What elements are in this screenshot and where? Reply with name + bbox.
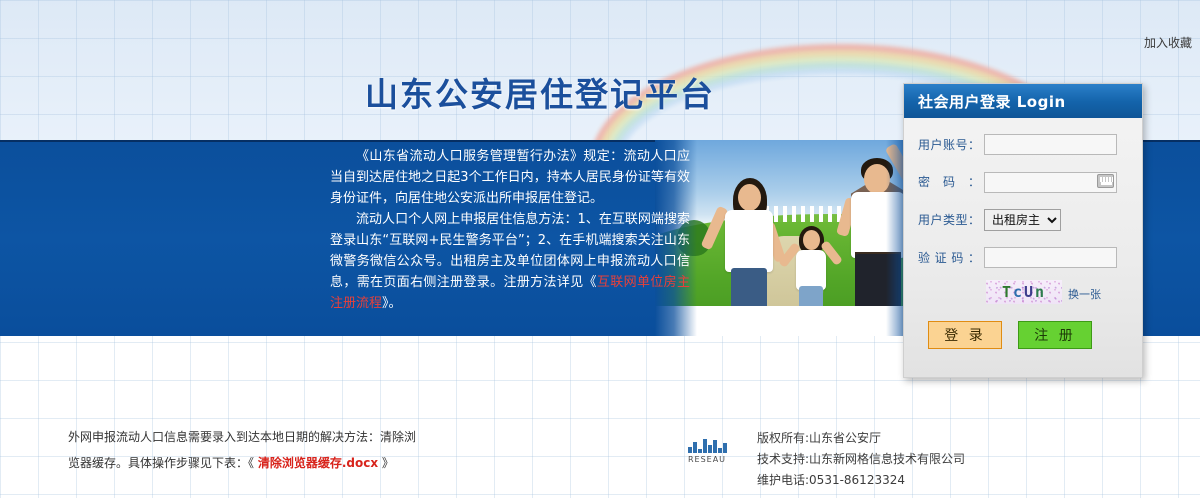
virtual-keyboard-icon[interactable] <box>1097 174 1114 188</box>
login-panel-title: 社会用户登录 Login <box>904 84 1142 118</box>
reseau-logo: RESEAU <box>680 438 734 464</box>
password-wrapper <box>984 171 1117 193</box>
captcha-row: 验证码 <box>904 247 1142 268</box>
password-row: 密码 <box>904 171 1142 193</box>
login-button[interactable]: 登 录 <box>928 321 1002 349</box>
login-panel: 社会用户登录 Login 用户账号 密码 用户类型 出租房主单位团体 验证码 T… <box>903 83 1143 378</box>
usertype-select[interactable]: 出租房主单位团体 <box>984 209 1061 231</box>
reseau-logo-icon <box>680 438 734 453</box>
copyright-line: 版权所有:山东省公安厅 <box>757 428 965 449</box>
captcha-label: 验证码 <box>918 249 984 266</box>
footer-notice-line2-after: 》 <box>378 456 394 470</box>
captcha-input[interactable] <box>984 247 1117 268</box>
family-photo <box>655 140 920 336</box>
clear-cache-doc-link[interactable]: 清除浏览器缓存.docx <box>258 456 378 470</box>
notice-paragraph-1: 《山东省流动人口服务管理暂行办法》规定：流动人口应当自到达居住地之日起3个工作日… <box>330 146 690 209</box>
add-to-favorites-link[interactable]: 加入收藏 <box>1144 36 1192 50</box>
captcha-refresh-link[interactable]: 换一张 <box>1068 286 1101 302</box>
usertype-label: 用户类型 <box>918 211 984 228</box>
username-label: 用户账号 <box>918 136 984 153</box>
captcha-image[interactable]: TcUn <box>986 280 1062 304</box>
footer-notice: 外网申报流动人口信息需要录入到达本地日期的解决方法：清除浏 览器缓存。具体操作步… <box>68 424 488 476</box>
support-line: 技术支持:山东新网格信息技术有限公司 <box>757 449 965 470</box>
footer-notice-line1: 外网申报流动人口信息需要录入到达本地日期的解决方法：清除浏 <box>68 424 488 450</box>
notice-text: 《山东省流动人口服务管理暂行办法》规定：流动人口应当自到达居住地之日起3个工作日… <box>330 146 690 314</box>
top-bar: 加入收藏 <box>0 0 1200 46</box>
login-button-row: 登 录 注 册 <box>904 321 1142 349</box>
footer-notice-line2-before: 览器缓存。具体操作步骤见下表：《 <box>68 456 258 470</box>
reseau-logo-caption: RESEAU <box>680 455 734 464</box>
page-title: 山东公安居住登记平台 <box>365 68 715 116</box>
username-row: 用户账号 <box>904 134 1142 155</box>
footer-notice-line2: 览器缓存。具体操作步骤见下表：《 清除浏览器缓存.docx 》 <box>68 450 488 476</box>
register-button[interactable]: 注 册 <box>1018 321 1092 349</box>
phone-line: 维护电话:0531-86123324 <box>757 470 965 491</box>
notice-paragraph-2: 流动人口个人网上申报居住信息方法：1、在互联网端搜索登录山东“互联网+民生警务平… <box>330 209 690 314</box>
password-label: 密码 <box>918 173 984 190</box>
usertype-row: 用户类型 出租房主单位团体 <box>904 209 1142 231</box>
footer-copyright: 版权所有:山东省公安厅 技术支持:山东新网格信息技术有限公司 维护电话:0531… <box>757 428 965 491</box>
notice-p2-after: 》。 <box>382 296 402 311</box>
username-input[interactable] <box>984 134 1117 155</box>
captcha-image-row: TcUn 换一张 <box>904 280 1142 304</box>
